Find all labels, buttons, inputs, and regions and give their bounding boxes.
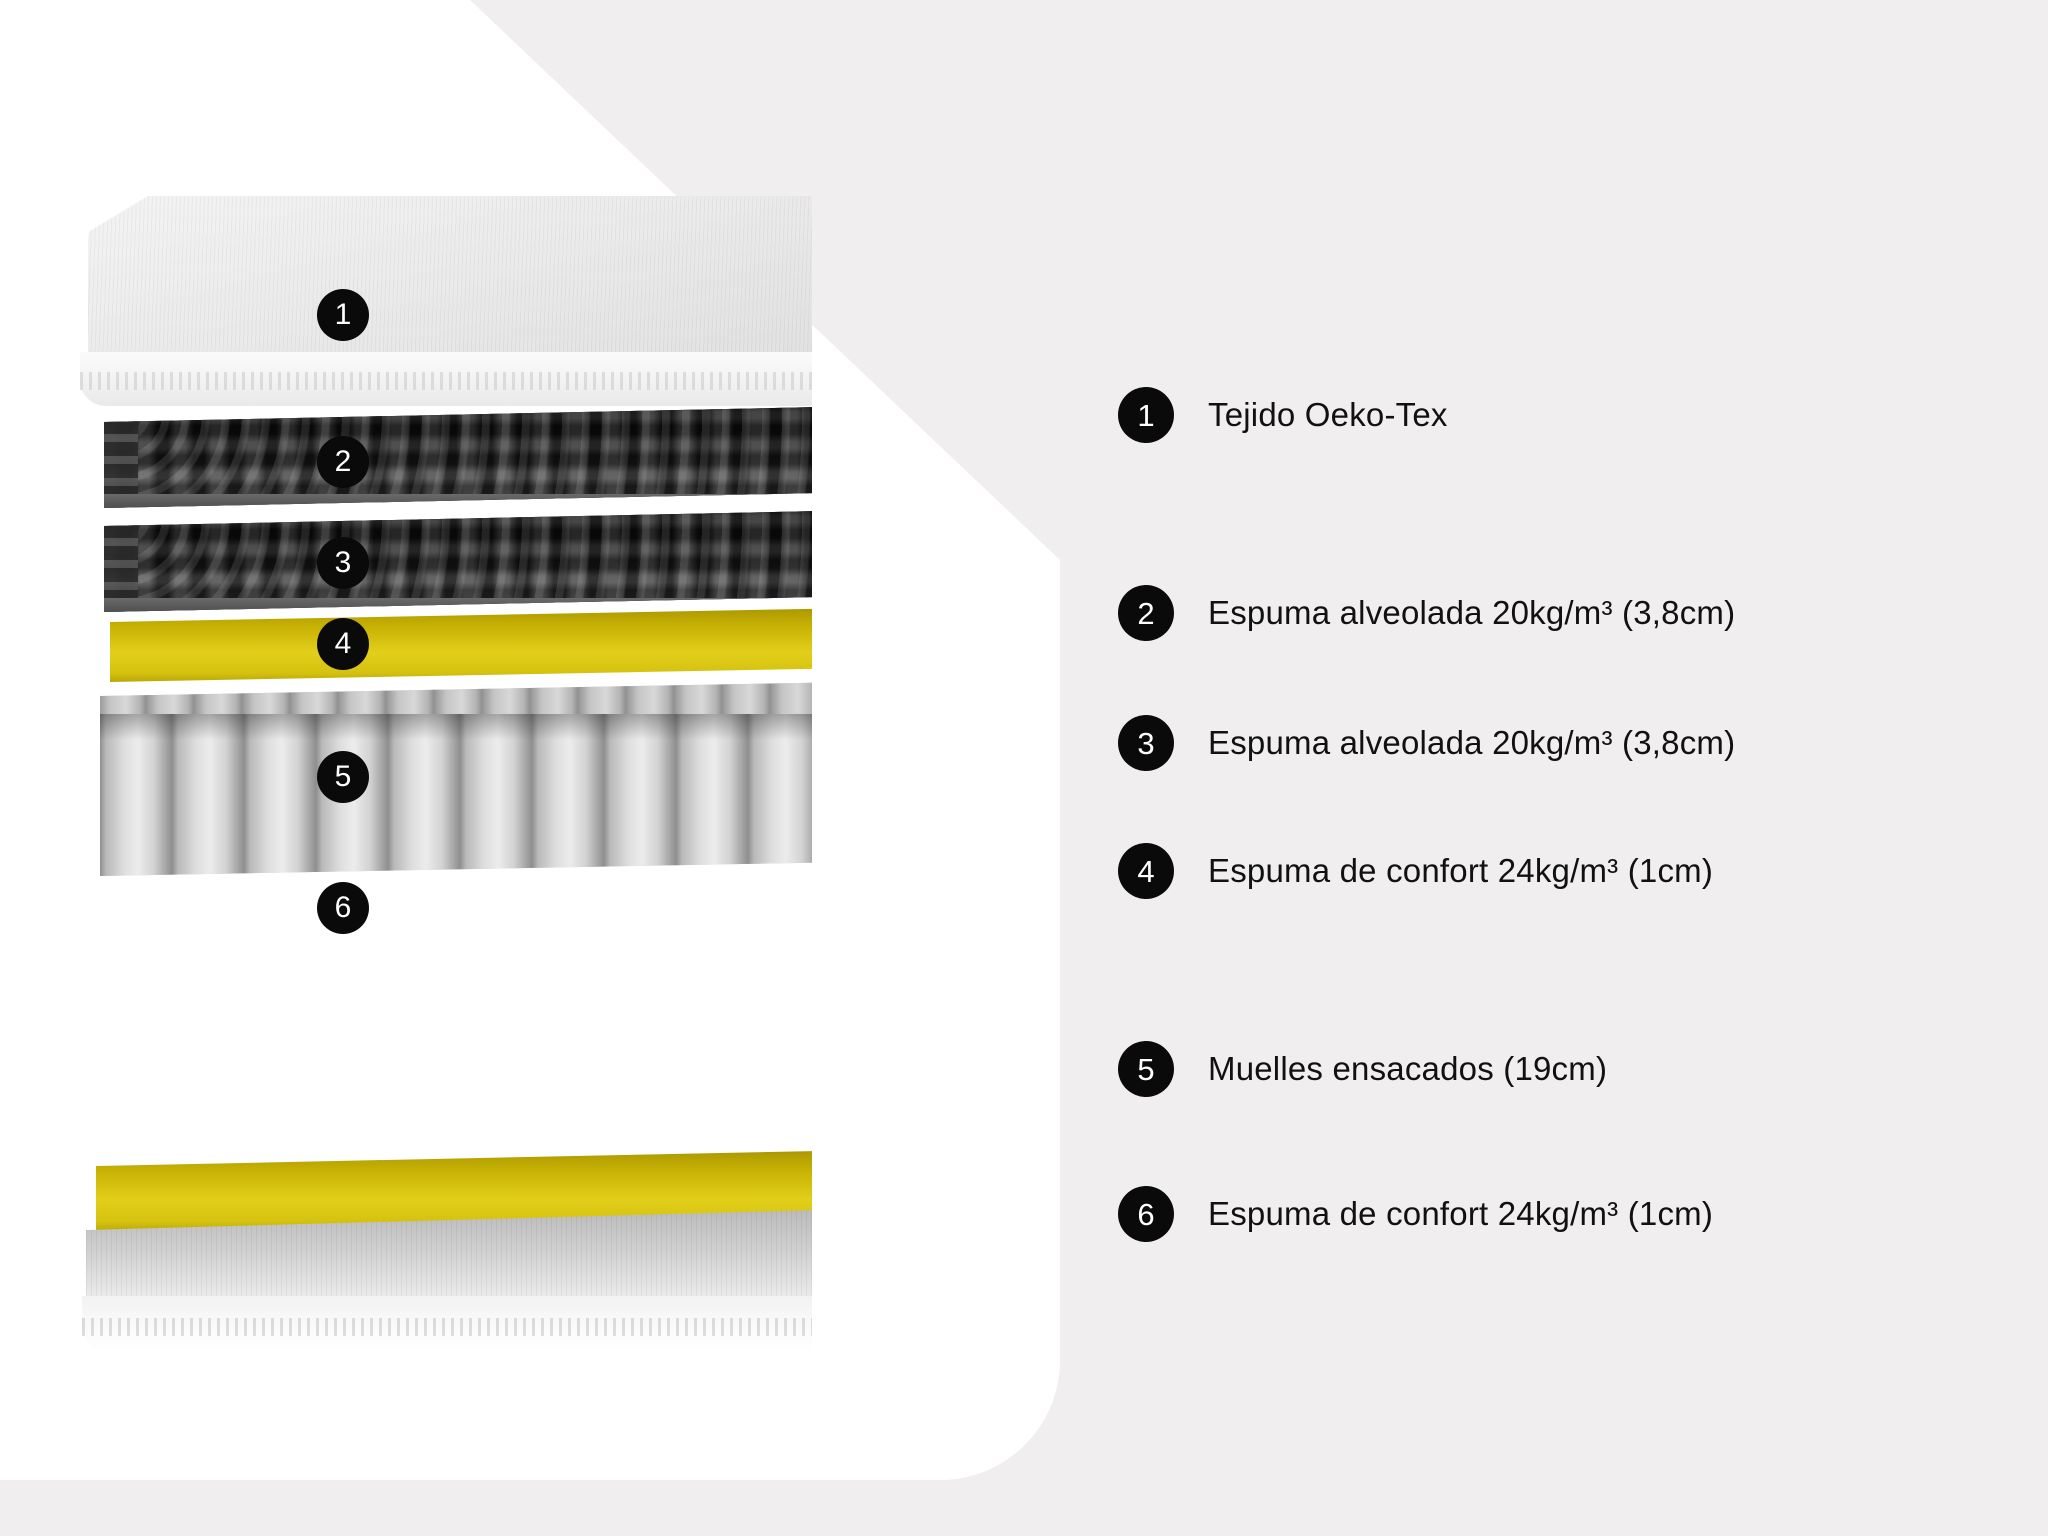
legend-item-5[interactable]: 5 Muelles ensacados (19cm)	[1118, 1041, 1607, 1097]
layer-2-foam-side-edge	[104, 404, 138, 508]
mattress-base-stitching	[82, 1318, 812, 1336]
legend-item-6[interactable]: 6 Espuma de confort 24kg/m³ (1cm)	[1118, 1186, 1713, 1242]
legend-label-6: Espuma de confort 24kg/m³ (1cm)	[1208, 1195, 1713, 1233]
callout-badge-5[interactable]: 5	[317, 751, 369, 803]
legend-item-3[interactable]: 3 Espuma alveolada 20kg/m³ (3,8cm)	[1118, 715, 1735, 771]
layer-3-foam-side-edge	[104, 508, 138, 612]
layer-3-convoluted-foam	[104, 508, 812, 612]
legend-badge-2: 2	[1118, 585, 1174, 641]
mattress-cutaway-illustration	[0, 0, 812, 1420]
legend-badge-6: 6	[1118, 1186, 1174, 1242]
callout-badge-4[interactable]: 4	[317, 618, 369, 670]
legend-item-1[interactable]: 1 Tejido Oeko-Tex	[1118, 387, 1448, 443]
legend-item-2[interactable]: 2 Espuma alveolada 20kg/m³ (3,8cm)	[1118, 585, 1735, 641]
layer-1-fabric-stitching	[80, 372, 812, 390]
mattress-layers-infographic: 1 2 3 4 5 6 1 Tejido Oeko-Tex 2 Espuma a…	[0, 0, 2048, 1536]
background-strip-bottom	[0, 1480, 1060, 1536]
legend-badge-4: 4	[1118, 843, 1174, 899]
legend-label-1: Tejido Oeko-Tex	[1208, 396, 1448, 434]
callout-badge-6[interactable]: 6	[317, 882, 369, 934]
layer-5-springs-shadow	[100, 714, 812, 740]
layer-4-comfort-foam	[110, 606, 812, 682]
callout-badge-1[interactable]: 1	[317, 289, 369, 341]
legend-label-3: Espuma alveolada 20kg/m³ (3,8cm)	[1208, 724, 1735, 762]
legend-label-4: Espuma de confort 24kg/m³ (1cm)	[1208, 852, 1713, 890]
legend-list: 1 Tejido Oeko-Tex 2 Espuma alveolada 20k…	[1118, 0, 1998, 1536]
layer-2-foam-base-strip	[104, 494, 812, 508]
legend-badge-3: 3	[1118, 715, 1174, 771]
callout-badge-3[interactable]: 3	[317, 537, 369, 589]
legend-label-5: Muelles ensacados (19cm)	[1208, 1050, 1607, 1088]
legend-label-2: Espuma alveolada 20kg/m³ (3,8cm)	[1208, 594, 1735, 632]
layer-5-pocket-springs	[100, 680, 812, 876]
legend-badge-1: 1	[1118, 387, 1174, 443]
callout-badge-2[interactable]: 2	[317, 436, 369, 488]
layer-2-convoluted-foam	[104, 404, 812, 508]
layer-3-foam-base-strip	[104, 598, 812, 612]
legend-badge-5: 5	[1118, 1041, 1174, 1097]
legend-item-4[interactable]: 4 Espuma de confort 24kg/m³ (1cm)	[1118, 843, 1713, 899]
